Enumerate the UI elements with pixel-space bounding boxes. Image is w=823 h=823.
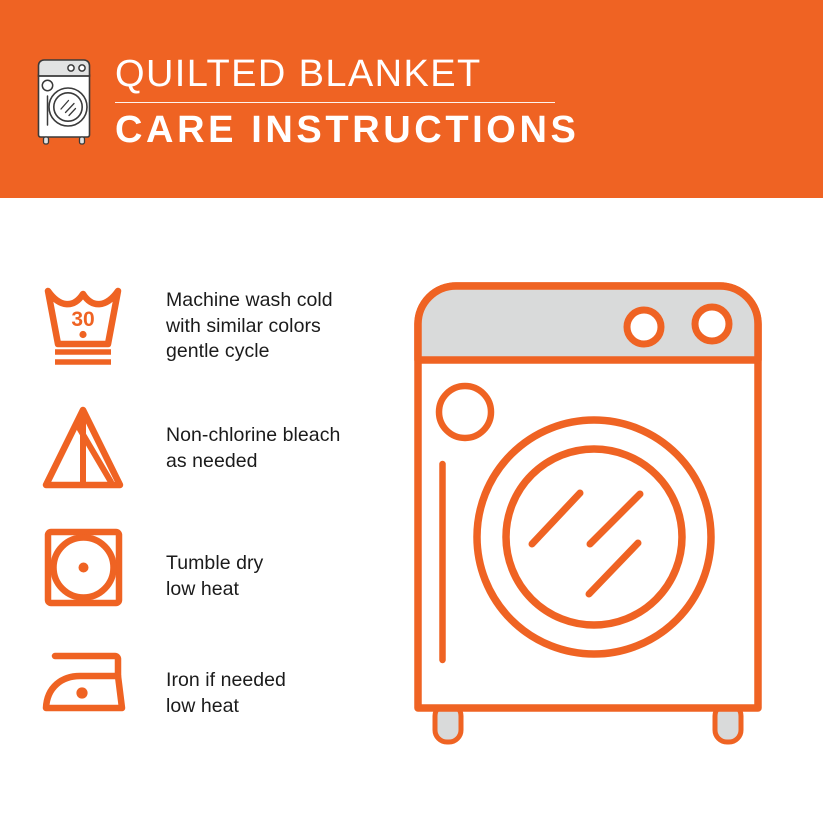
non-chlorine-bleach-triangle-icon <box>38 404 138 496</box>
washing-machine-icon <box>33 55 95 147</box>
page-title-primary: QUILTED BLANKET <box>115 52 575 96</box>
care-text-bleach: Non-chlorine bleach as needed <box>166 423 396 474</box>
header-banner: QUILTED BLANKET CARE INSTRUCTIONS <box>0 0 823 198</box>
care-row-iron: Iron if needed low heat <box>0 645 400 765</box>
iron-icon <box>38 645 138 737</box>
front-load-washing-machine-illustration <box>404 272 804 754</box>
care-line: gentle cycle <box>166 339 396 365</box>
tumble-dry-icon <box>38 523 138 615</box>
machine-wash-tub-icon: 30 <box>38 282 138 374</box>
care-text-machine-wash: Machine wash cold with similar colors ge… <box>166 288 396 365</box>
title-divider <box>115 102 555 103</box>
care-line: with similar colors <box>166 314 396 340</box>
care-line: Machine wash cold <box>166 288 396 314</box>
care-instructions-page: QUILTED BLANKET CARE INSTRUCTIONS 30 Mac… <box>0 0 823 823</box>
care-line: Iron if needed <box>166 668 396 694</box>
care-row-bleach: Non-chlorine bleach as needed <box>0 404 400 524</box>
care-line: low heat <box>166 694 396 720</box>
care-line: as needed <box>166 449 396 475</box>
care-row-machine-wash: 30 Machine wash cold with similar colors… <box>0 282 400 402</box>
wash-temperature-label: 30 <box>71 308 94 331</box>
page-title-secondary: CARE INSTRUCTIONS <box>115 108 575 152</box>
care-row-tumble-dry: Tumble dry low heat <box>0 523 400 643</box>
care-line: Tumble dry <box>166 551 396 577</box>
care-text-tumble-dry: Tumble dry low heat <box>166 551 396 602</box>
care-line: Non-chlorine bleach <box>166 423 396 449</box>
care-line: low heat <box>166 577 396 603</box>
header-title-group: QUILTED BLANKET CARE INSTRUCTIONS <box>115 52 575 152</box>
care-text-iron: Iron if needed low heat <box>166 668 396 719</box>
